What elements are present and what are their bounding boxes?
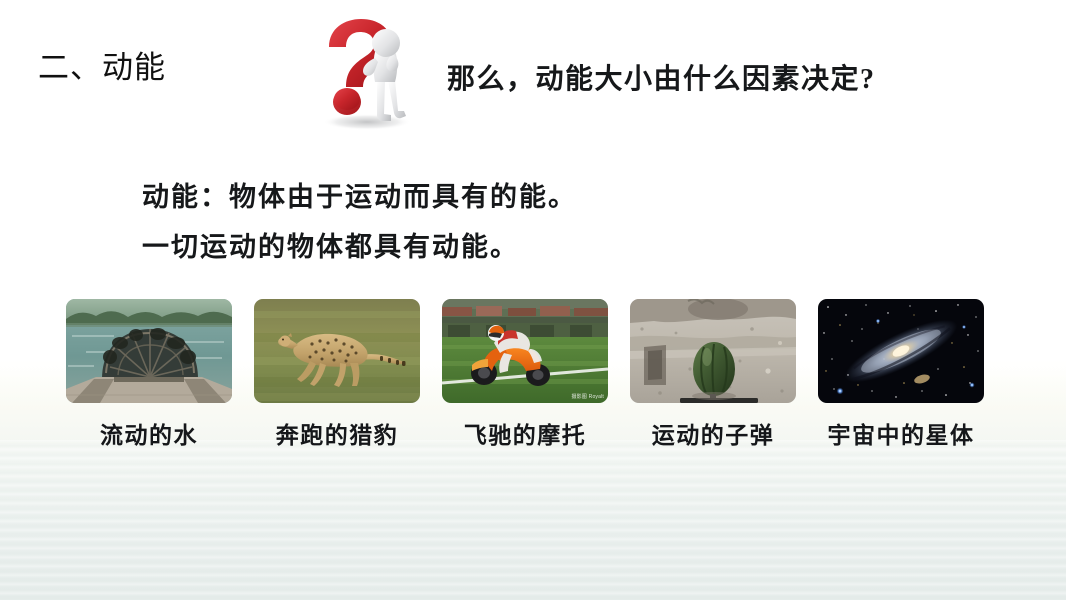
definition-line-2: 一切运动的物体都具有动能。 xyxy=(142,222,577,272)
section-title: 二、动能 xyxy=(38,42,166,87)
prompt-question-text: 那么，动能大小由什么因素决定? xyxy=(447,57,876,97)
example-card: 流动的水 xyxy=(66,299,232,450)
example-card: 运动的子弹 xyxy=(630,299,796,450)
image-watermark: 摄影图 Royalt xyxy=(571,393,604,400)
definition-block: 动能：物体由于运动而具有的能。 一切运动的物体都具有动能。 xyxy=(142,172,577,272)
example-card: 宇宙中的星体 xyxy=(818,299,984,450)
slide-canvas: 二、动能 xyxy=(0,0,1066,600)
example-card: 摄影图 Royalt 飞驰的摩托 xyxy=(442,299,608,450)
running-cheetah-image xyxy=(254,299,420,403)
example-caption: 宇宙中的星体 xyxy=(828,416,975,450)
question-mark-thinking-figure-icon xyxy=(305,14,429,132)
example-caption: 奔跑的猎豹 xyxy=(276,416,399,450)
example-card: 奔跑的猎豹 xyxy=(254,299,420,450)
definition-line-1: 动能：物体由于运动而具有的能。 xyxy=(142,172,577,222)
racing-motorcycle-image: 摄影图 Royalt xyxy=(442,299,608,403)
example-caption: 飞驰的摩托 xyxy=(464,416,587,450)
example-caption: 流动的水 xyxy=(100,416,198,450)
watermelon-bullet-target-image xyxy=(630,299,796,403)
andromeda-galaxy-image xyxy=(818,299,984,403)
water-wheel-in-river-image xyxy=(66,299,232,403)
example-caption: 运动的子弹 xyxy=(652,416,775,450)
example-thumbnail-strip: 流动的水 xyxy=(66,299,984,450)
